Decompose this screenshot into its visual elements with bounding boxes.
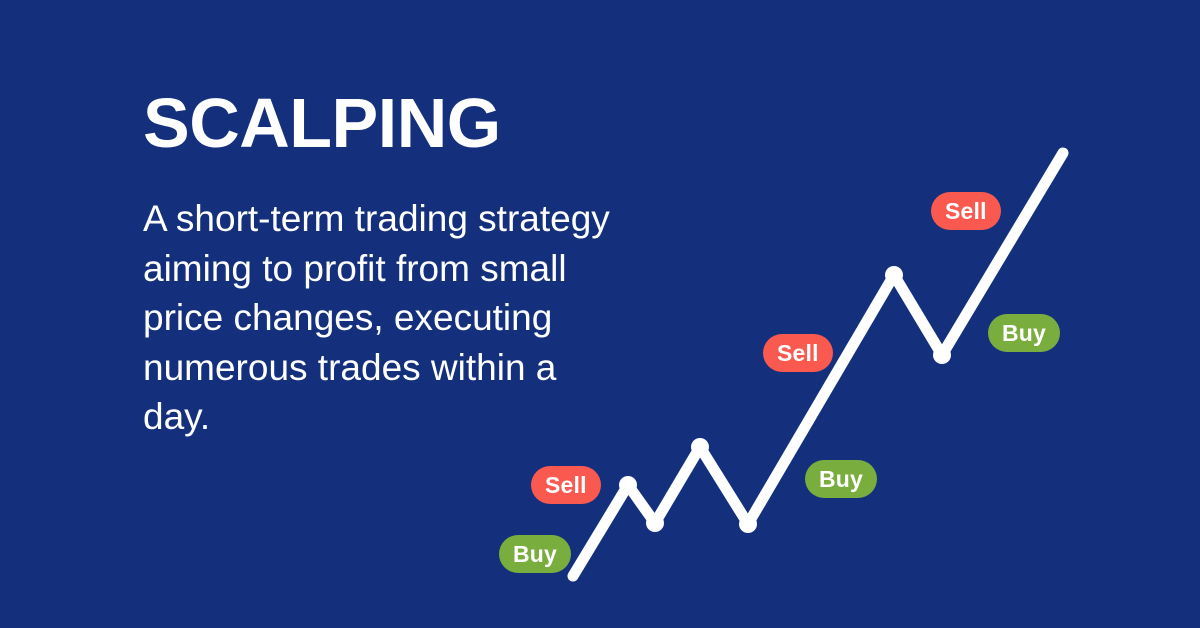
price-point-marker-trough [646,514,664,532]
signal-badge-label: Buy [1002,322,1046,345]
scalping-infographic: BuySellBuySellBuySell SCALPING A short-t… [0,0,1200,628]
price-point-marker-trough [739,515,757,533]
page-description: A short-term trading strategy aiming to … [143,194,633,442]
signal-badge-buy[interactable]: Buy [499,535,571,573]
signal-badge-label: Sell [545,474,587,497]
signal-badge-sell[interactable]: Sell [763,334,833,372]
signal-badge-buy[interactable]: Buy [805,460,877,498]
text-column: SCALPING A short-term trading strategy a… [143,88,663,442]
page-title: SCALPING [143,88,663,158]
price-point-marker-peak [885,266,903,284]
price-point-marker-peak [691,438,709,456]
price-point-marker-peak [619,476,637,494]
signal-badge-label: Sell [777,342,819,365]
signal-badge-buy[interactable]: Buy [988,314,1060,352]
signal-badge-label: Sell [945,200,987,223]
signal-badge-sell[interactable]: Sell [531,466,601,504]
signal-badge-sell[interactable]: Sell [931,192,1001,230]
signal-badge-label: Buy [513,543,557,566]
price-point-marker-trough [933,346,951,364]
signal-badge-label: Buy [819,468,863,491]
